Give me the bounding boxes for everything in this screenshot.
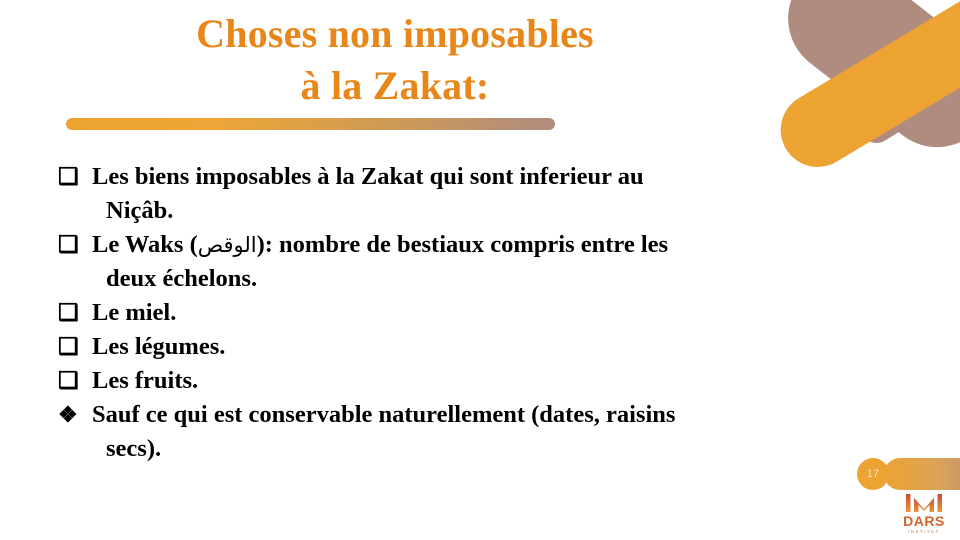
list-item-line-2: deux échelons. <box>106 262 938 296</box>
list-item-text: Les biens imposables à la Zakat qui sont… <box>90 160 938 228</box>
list-item-line-1: Les légumes. <box>92 333 225 360</box>
list-item-text: Les légumes. <box>90 330 938 364</box>
title-line-2: à la Zakat: <box>0 60 790 112</box>
list-item: ❑ Le miel. <box>58 296 938 330</box>
list-item: ❑ Les légumes. <box>58 330 938 364</box>
svg-text:INSTITUT: INSTITUT <box>908 529 940 534</box>
list-item-text: Les fruits. <box>90 364 938 398</box>
bullet-list: ❑ Les biens imposables à la Zakat qui so… <box>58 160 938 466</box>
list-item: ❑ Les biens imposables à la Zakat qui so… <box>58 160 938 228</box>
list-item-line-1-prefix: Le Waks ( <box>92 231 198 258</box>
logo-mark-icon: DARS INSTITUT <box>896 488 952 536</box>
decorative-mauve-bar-top <box>766 0 960 170</box>
slide-title: Choses non imposables à la Zakat: <box>0 8 790 112</box>
list-item-line-1: Sauf ce qui est conservable naturellemen… <box>92 401 675 428</box>
list-item-text: Le Waks (الوقص): nombre de bestiaux comp… <box>90 228 938 296</box>
arabic-term: الوقص <box>198 233 257 257</box>
list-item-line-1: Les fruits. <box>92 367 198 394</box>
hollow-square-bullet-icon: ❑ <box>58 228 90 262</box>
list-item-line-1: Les biens imposables à la Zakat qui sont… <box>92 163 644 190</box>
svg-text:DARS: DARS <box>903 513 945 529</box>
list-item-line-2: Niçâb. <box>106 194 938 228</box>
decorative-mauve-bar-small <box>853 25 960 149</box>
hollow-square-bullet-icon: ❑ <box>58 160 90 194</box>
list-item-line-2: secs). <box>106 432 938 466</box>
diamond-floret-bullet-icon: ❖ <box>58 398 90 432</box>
hollow-square-bullet-icon: ❑ <box>58 330 90 364</box>
list-item-text: Le miel. <box>90 296 938 330</box>
page-number-badge: 17 <box>857 458 889 490</box>
list-item-line-1-suffix: ): nombre de bestiaux compris entre les <box>257 231 668 258</box>
hollow-square-bullet-icon: ❑ <box>58 296 90 330</box>
list-item: ❖ Sauf ce qui est conservable naturellem… <box>58 398 938 466</box>
list-item-line-1: Le miel. <box>92 299 176 326</box>
decorative-orange-bar <box>767 0 960 181</box>
list-item: ❑ Le Waks (الوقص): nombre de bestiaux co… <box>58 228 938 296</box>
list-item: ❑ Les fruits. <box>58 364 938 398</box>
hollow-square-bullet-icon: ❑ <box>58 364 90 398</box>
slide-canvas: Choses non imposables à la Zakat: ❑ Les … <box>0 0 960 540</box>
title-underline-rule <box>66 118 555 130</box>
list-item-text: Sauf ce qui est conservable naturellemen… <box>90 398 938 466</box>
dars-institut-logo: DARS INSTITUT <box>896 488 952 536</box>
title-line-1: Choses non imposables <box>0 8 790 60</box>
